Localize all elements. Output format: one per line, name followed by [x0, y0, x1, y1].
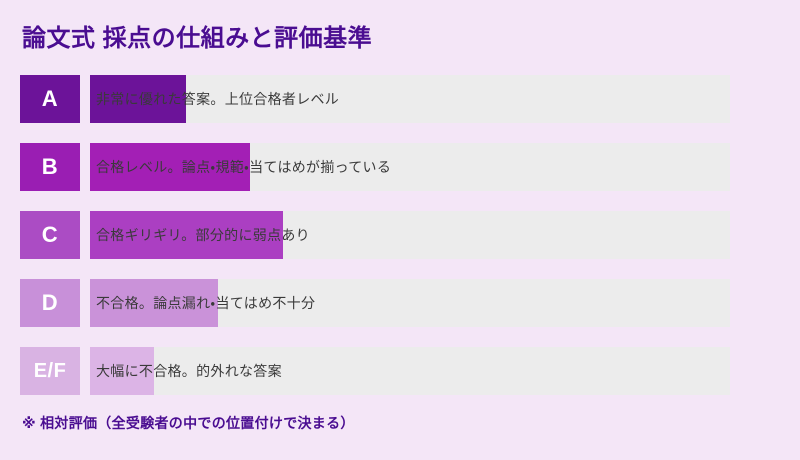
grade-badge-b: B: [20, 143, 80, 191]
grade-badge-c: C: [20, 211, 80, 259]
grade-badge-d: D: [20, 279, 80, 327]
grade-badge-a: A: [20, 75, 80, 123]
page-title: 論文式 採点の仕組みと評価基準: [22, 18, 372, 53]
grade-label-d: 不合格。論点漏れ・当てはめ不十分: [96, 279, 315, 327]
grade-row-b: B 合格レベル。論点・規範・当てはめが揃っている: [0, 143, 800, 191]
grade-row-d: D 不合格。論点漏れ・当てはめ不十分: [0, 279, 800, 327]
grade-label-ef: 大幅に不合格。的外れな答案: [96, 347, 282, 395]
grade-row-a: A 非常に優れた答案。上位合格者レベル: [0, 75, 800, 123]
grade-badge-ef: E/F: [20, 347, 80, 395]
footnote-relative-evaluation: ※ 相対評価（全受験者の中での位置付けで決まる）: [22, 413, 355, 433]
grade-row-c: C 合格ギリギリ。部分的に弱点あり: [0, 211, 800, 259]
grade-label-a: 非常に優れた答案。上位合格者レベル: [96, 75, 339, 123]
grade-list: A 非常に優れた答案。上位合格者レベル B 合格レベル。論点・規範・当てはめが揃…: [0, 75, 800, 415]
slide-canvas: 論文式 採点の仕組みと評価基準 A 非常に優れた答案。上位合格者レベル B 合格…: [0, 0, 800, 460]
grade-label-c: 合格ギリギリ。部分的に弱点あり: [96, 211, 310, 259]
grade-row-ef: E/F 大幅に不合格。的外れな答案: [0, 347, 800, 395]
grade-label-b: 合格レベル。論点・規範・当てはめが揃っている: [96, 143, 391, 191]
